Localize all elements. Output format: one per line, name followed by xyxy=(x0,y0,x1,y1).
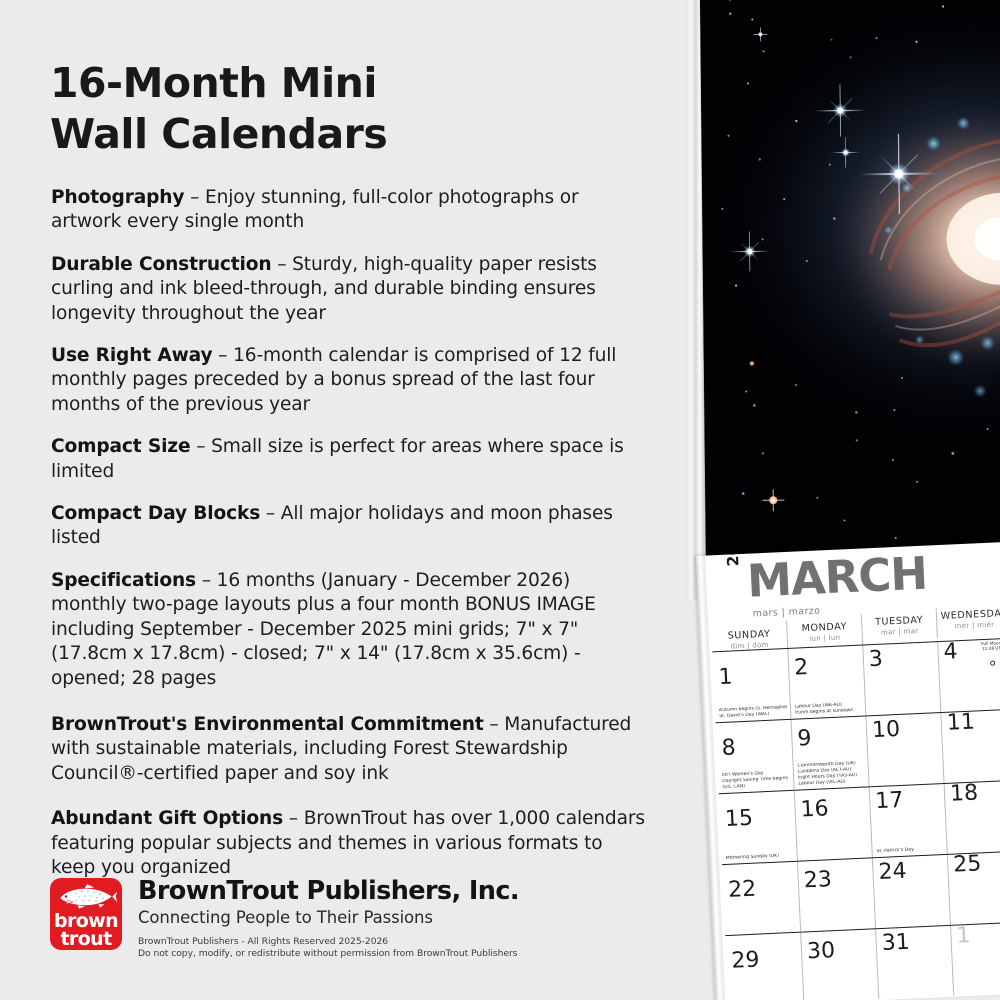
day-number: 30 xyxy=(807,939,836,964)
feature-dash: – xyxy=(260,503,281,524)
day-number: 3 xyxy=(868,648,883,673)
trout-fish-icon xyxy=(54,883,118,910)
feature-dash: – xyxy=(271,254,292,275)
feature-item-gift: Abundant Gift Options – BrownTrout has o… xyxy=(51,807,651,880)
page-title-line-1: 16-Month Mini xyxy=(50,58,650,109)
day-events: Labour Day (WA-AU)Purim begins at sundow… xyxy=(795,702,862,717)
calendar-week-row: 22232425 xyxy=(722,851,1000,936)
day-number: 23 xyxy=(803,868,832,893)
feature-term: Compact Size xyxy=(51,436,190,457)
calendar-day-cell[interactable]: 9Commonwealth Day (UK)Canberra Day (ACT-… xyxy=(791,716,869,789)
calendar-day-cell[interactable]: 18 xyxy=(944,781,1000,854)
day-number: 18 xyxy=(950,781,979,806)
day-events: Int'l Women's DayDaylight Saving Time be… xyxy=(722,770,791,791)
calendar-day-cell[interactable]: 3 xyxy=(862,642,940,715)
moon-phase-time: 11:38 UT xyxy=(974,645,1000,652)
calendar-day-cell[interactable]: 4Full Moon11:38 UT xyxy=(937,639,1000,712)
product-info-page: 16-Month Mini Wall Calendars Photography… xyxy=(0,0,1000,1000)
calendar-day-cell[interactable]: 11 xyxy=(940,710,1000,783)
page-title-line-2: Wall Calendars xyxy=(50,109,650,160)
feature-dash: – xyxy=(184,187,205,208)
day-number: 31 xyxy=(881,931,910,956)
page-title: 16-Month Mini Wall Calendars xyxy=(50,58,650,160)
day-number: 2 xyxy=(794,656,809,681)
moon-phase-marker: Full Moon11:38 UT xyxy=(974,640,1000,671)
calendar-day-cell[interactable]: 22 xyxy=(722,862,800,935)
day-number: 8 xyxy=(721,736,736,761)
weekday-header-tuesday: TUESDAYmar | mar xyxy=(861,611,937,644)
feature-term: Compact Day Blocks xyxy=(51,503,260,524)
calendar-week-row: 1Autumn begins (S. Hemisphere)St. David'… xyxy=(712,638,1000,723)
publisher-footer: brown trout BrownTrout Publishers, Inc. … xyxy=(50,876,650,968)
feature-item-dayblocks: Compact Day Blocks – All major holidays … xyxy=(51,502,651,551)
calendar-day-cell[interactable]: 1Autumn begins (S. Hemisphere)St. David'… xyxy=(712,649,790,722)
feature-dash: – xyxy=(196,570,217,591)
calendar-day-cell[interactable]: 29 xyxy=(725,933,803,1000)
feature-item-durable: Durable Construction – Sturdy, high-qual… xyxy=(51,253,651,326)
feature-term: Specifications xyxy=(51,570,196,591)
day-number: 29 xyxy=(731,949,760,974)
calendar-day-cell[interactable]: 31 xyxy=(875,926,953,999)
day-number: 25 xyxy=(953,852,982,877)
day-number: 24 xyxy=(878,860,907,885)
calendar-day-cell[interactable]: 15Mothering Sunday (UK) xyxy=(719,791,797,864)
day-number: 11 xyxy=(946,711,975,736)
calendar-grid-page: 2026 MARCH mars | marzo SUNDAYdim | domM… xyxy=(696,541,1000,1000)
feature-term: Photography xyxy=(51,187,184,208)
day-number: 17 xyxy=(875,789,904,814)
calendar-day-cell[interactable]: 25 xyxy=(947,852,1000,925)
publisher-tagline: Connecting People to Their Passions xyxy=(138,907,650,929)
calendar-grid: SUNDAYdim | domMONDAYlun | lunTUESDAYmar… xyxy=(711,608,1000,1000)
calendar-week-row: 2930311 xyxy=(725,921,1000,1000)
calendar-month-name: MARCH xyxy=(746,550,928,606)
left-info-panel: 16-Month Mini Wall Calendars Photography… xyxy=(0,0,690,1000)
feature-dash: – xyxy=(283,808,304,829)
browntrout-logo: brown trout xyxy=(50,878,122,950)
feature-term: BrownTrout's Environmental Commitment xyxy=(51,714,484,735)
feature-term: Use Right Away xyxy=(51,345,212,366)
feature-dash: – xyxy=(190,436,211,457)
calendar-day-cell[interactable]: 24 xyxy=(872,855,950,928)
day-number: 10 xyxy=(872,718,901,743)
day-number: 4 xyxy=(943,640,958,665)
logo-word-trout: trout xyxy=(50,930,122,949)
feature-term: Durable Construction xyxy=(51,254,271,275)
calendar-day-cell[interactable]: 17St. Patrick's Day xyxy=(869,784,947,857)
feature-item-enviro: BrownTrout's Environmental Commitment – … xyxy=(51,713,651,786)
calendar-week-row: 8Int'l Women's DayDaylight Saving Time b… xyxy=(716,709,1000,794)
legal-notice: BrownTrout Publishers - All Rights Reser… xyxy=(138,936,650,960)
day-number: 22 xyxy=(728,878,757,903)
day-number: 1 xyxy=(956,924,971,949)
feature-term: Abundant Gift Options xyxy=(51,808,283,829)
feature-dash: – xyxy=(212,345,233,366)
day-number: 15 xyxy=(724,807,753,832)
full-moon-icon xyxy=(990,661,995,666)
feature-item-photography: Photography – Enjoy stunning, full-color… xyxy=(51,186,651,235)
feature-item-compactsize: Compact Size – Small size is perfect for… xyxy=(51,435,651,484)
feature-dash: – xyxy=(484,714,505,735)
calendar-day-cell[interactable]: 30 xyxy=(800,929,878,1000)
day-number: 1 xyxy=(718,665,733,690)
weekday-header-wednesday: WEDNESDAYmer | miér xyxy=(936,605,1000,638)
day-events: Commonwealth Day (UK)Canberra Day (ACT-A… xyxy=(798,761,866,788)
calendar-day-cell[interactable]: 23 xyxy=(797,858,875,931)
galaxy-photo xyxy=(700,0,1000,570)
calendar-week-row: 15Mothering Sunday (UK)1617St. Patrick's… xyxy=(719,780,1000,865)
legal-line-2: Do not copy, modify, or redistribute wit… xyxy=(138,948,650,960)
legal-line-1: BrownTrout Publishers - All Rights Reser… xyxy=(138,936,650,948)
calendar-preview-stack: 2026 MARCH mars | marzo SUNDAYdim | domM… xyxy=(686,0,1000,1000)
calendar-day-cell[interactable]: 1 xyxy=(950,922,1000,995)
publisher-name: BrownTrout Publishers, Inc. xyxy=(138,876,650,906)
day-number: 16 xyxy=(800,797,829,822)
day-number: 9 xyxy=(797,727,812,752)
calendar-day-cell[interactable]: 16 xyxy=(794,787,872,860)
calendar-day-cell[interactable]: 8Int'l Women's DayDaylight Saving Time b… xyxy=(716,720,794,793)
day-events: Autumn begins (S. Hemisphere)St. David's… xyxy=(719,705,787,720)
feature-list: Photography – Enjoy stunning, full-color… xyxy=(51,186,651,880)
feature-item-specs: Specifications – 16 months (January - De… xyxy=(51,569,651,691)
calendar-day-cell[interactable]: 2Labour Day (WA-AU)Purim begins at sundo… xyxy=(787,646,865,719)
publisher-text-block: BrownTrout Publishers, Inc. Connecting P… xyxy=(138,876,650,960)
calendar-day-cell[interactable]: 10 xyxy=(865,713,943,786)
feature-item-useright: Use Right Away – 16-month calendar is co… xyxy=(51,344,651,417)
